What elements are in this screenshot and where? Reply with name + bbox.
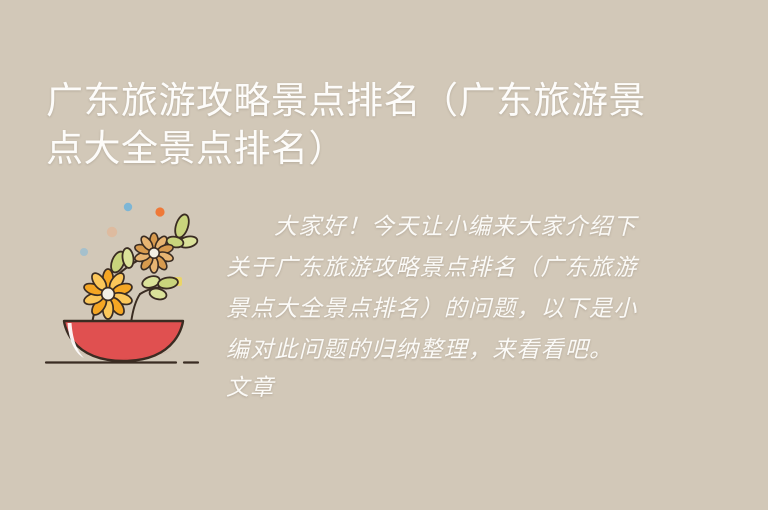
- flower-pot: [64, 321, 183, 361]
- pot-body: [64, 321, 183, 361]
- flower-left: [83, 269, 134, 319]
- flower-center: [149, 248, 159, 258]
- flower-center: [102, 288, 115, 301]
- dot-orange-top-icon: [155, 207, 164, 216]
- dot-blue-top-icon: [124, 203, 132, 211]
- dot-peach-left-icon: [107, 227, 117, 237]
- dot-blue-left-icon: [80, 248, 88, 256]
- leaf-7: [157, 276, 178, 289]
- article-intro-paragraph: 大家好！今天让小编来大家介绍下关于广东旅游攻略景点排名（广东旅游景点大全景点排名…: [226, 206, 650, 370]
- page-title: 广东旅游攻略景点排名（广东旅游景点大全景点排名）: [46, 77, 646, 173]
- leaf-3: [173, 213, 192, 240]
- article-body: 大家好！今天让小编来大家介绍下关于广东旅游攻略景点排名（广东旅游景点大全景点排名…: [226, 206, 650, 406]
- article-tail-label: 文章: [226, 370, 650, 406]
- illustration-svg: [36, 190, 216, 380]
- stem-right: [131, 294, 140, 323]
- potted-flowers-illustration: [36, 190, 216, 380]
- page-root: 广东旅游攻略景点排名（广东旅游景点大全景点排名） 大家好！今天让小编来大家介绍下…: [0, 0, 768, 510]
